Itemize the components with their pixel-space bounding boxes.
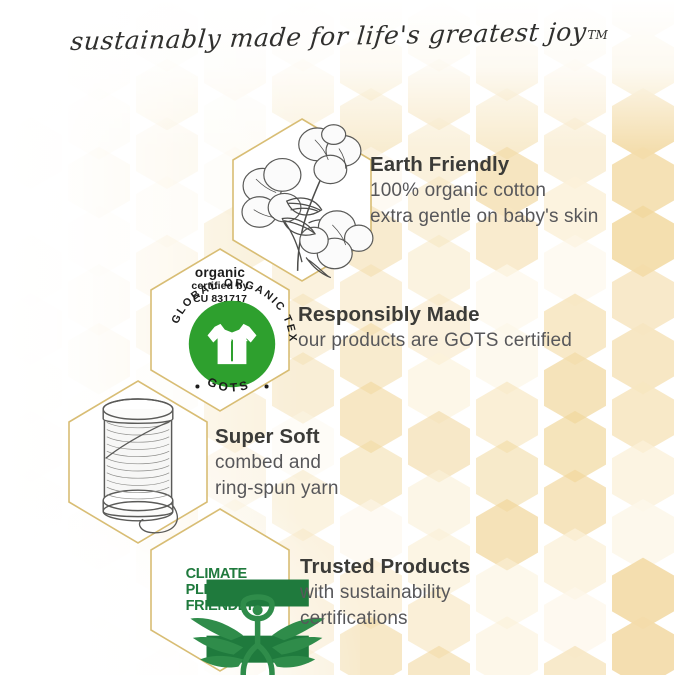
feature-title: Super Soft	[215, 424, 339, 450]
honeycomb-hex	[612, 616, 674, 675]
honeycomb-hex	[544, 646, 606, 675]
climate-pledge-friendly-icon: CLIMATE PLEDGE FRIENDL	[186, 567, 255, 613]
gots-certification-icon: GLOBAL ORGANIC TEXTILE STANDARD GOTS org…	[160, 261, 280, 306]
hex-frame-trusted-products: CLIMATE PLEDGE FRIENDL	[148, 507, 292, 673]
feature-text-trusted-products: Trusted Products with sustainability cer…	[300, 554, 470, 631]
honeycomb-hex	[408, 646, 470, 675]
feature-line: certifications	[300, 606, 470, 631]
feature-text-earth-friendly: Earth Friendly 100% organic cotton extra…	[370, 152, 598, 229]
promo-infographic: sustainably made for life's greatest joy…	[0, 0, 679, 675]
feature-line: extra gentle on baby's skin	[370, 204, 598, 229]
honeycomb-hex	[476, 616, 538, 675]
honeycomb-hex	[0, 646, 62, 675]
feature-line: with sustainability	[300, 580, 470, 605]
feature-line: combed and	[215, 450, 339, 475]
feature-title: Earth Friendly	[370, 152, 598, 178]
feature-line: 100% organic cotton	[370, 178, 598, 203]
headline: sustainably made for life's greatest joy…	[0, 22, 679, 51]
honeycomb-hex	[68, 616, 130, 675]
feature-title: Responsibly Made	[298, 302, 572, 328]
feature-text-super-soft: Super Soft combed and ring-spun yarn	[215, 424, 339, 501]
feature-line: our products are GOTS certified	[298, 328, 572, 353]
feature-line: ring-spun yarn	[215, 476, 339, 501]
trademark-symbol: TM	[587, 28, 607, 42]
feature-title: Trusted Products	[300, 554, 470, 580]
headline-text: sustainably made for life's greatest joy	[69, 17, 588, 56]
feature-text-responsibly-made: Responsibly Made our products are GOTS c…	[298, 302, 572, 354]
